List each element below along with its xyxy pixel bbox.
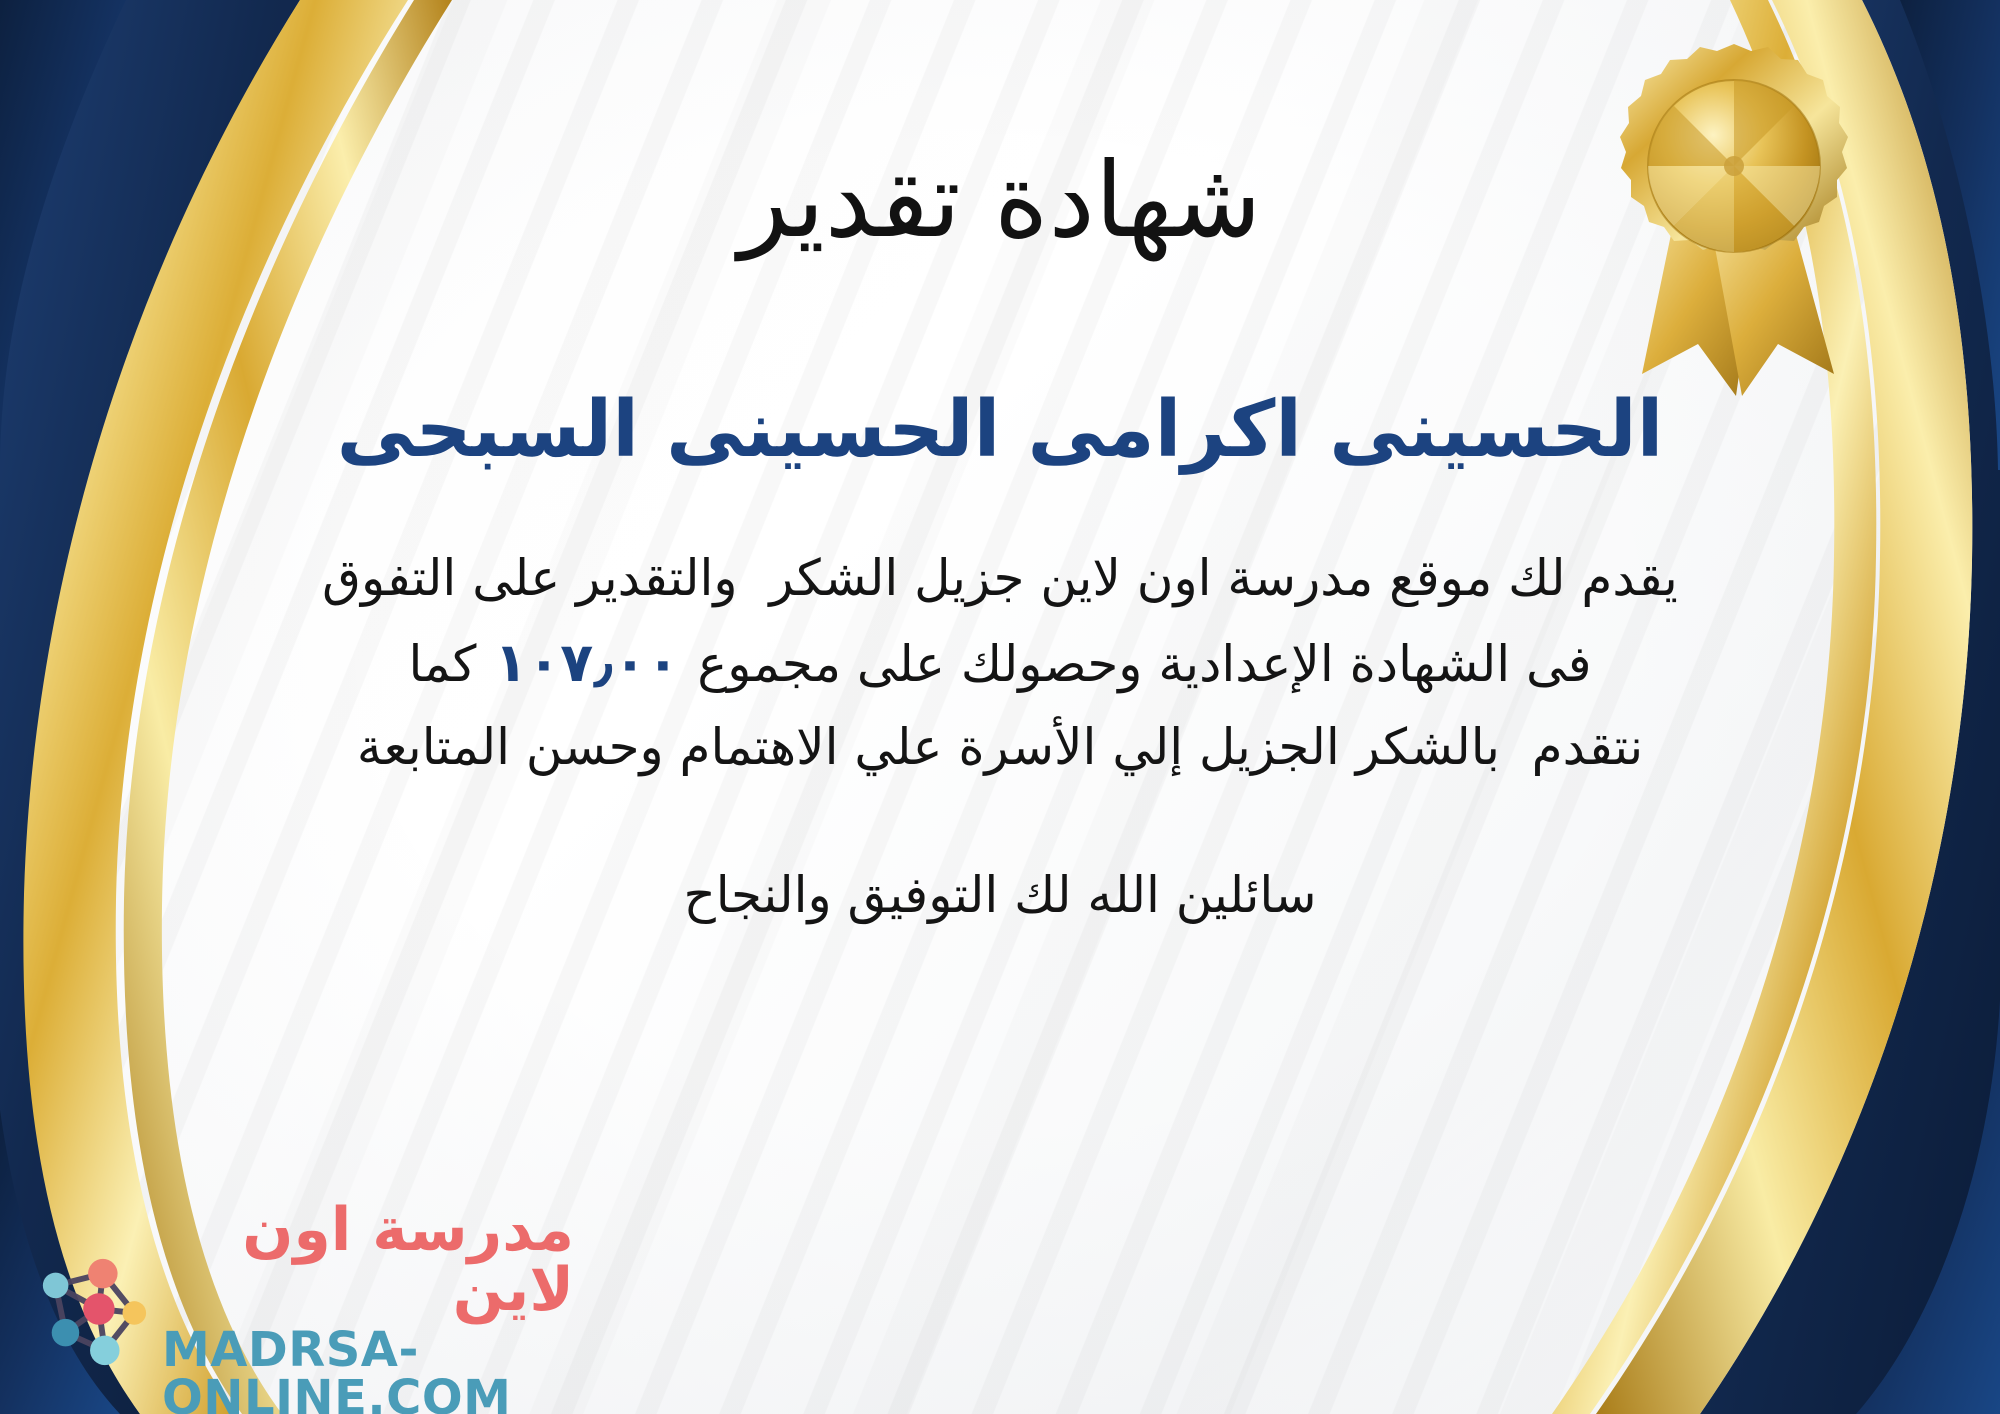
brand-website: MADRSA-ONLINE.COM <box>162 1326 574 1414</box>
body-line-2-text-before-score: فى الشهادة الإعدادية وحصولك على مجموع <box>697 624 1591 705</box>
certificate-canvas: شهادة تقدير الحسينى اكرامى الحسينى السبح… <box>0 0 2000 1414</box>
body-line-1: يقدم لك موقع مدرسة اون لاين جزيل الشكر و… <box>130 538 1870 619</box>
body-line-3: نتقدم بالشكر الجزيل إلي الأسرة علي الاهت… <box>130 707 1870 788</box>
body-line-2-text-after-score: كما <box>408 624 476 705</box>
recipient-name: الحسينى اكرامى الحسينى السبحى <box>220 383 1780 478</box>
certificate-body: يقدم لك موقع مدرسة اون لاين جزيل الشكر و… <box>130 538 1870 787</box>
network-nodes-icon <box>34 1252 152 1370</box>
total-score-value: ١٠٧٫٠٠ <box>476 619 697 706</box>
body-line-3-text: نتقدم بالشكر الجزيل إلي الأسرة علي الاهت… <box>357 707 1643 788</box>
brand-arabic-name: مدرسة اون لاين <box>162 1200 574 1320</box>
brand-logo[interactable]: مدرسة اون لاين MADRSA-ONLINE.COM <box>34 1236 574 1386</box>
page-title: شهادة تقدير <box>738 146 1261 255</box>
body-line-2: فى الشهادة الإعدادية وحصولك على مجموع ١٠… <box>130 619 1870 706</box>
body-line-1-text: يقدم لك موقع مدرسة اون لاين جزيل الشكر و… <box>322 538 1678 619</box>
closing-statement: سائلين الله لك التوفيق والنجاح <box>683 866 1316 924</box>
